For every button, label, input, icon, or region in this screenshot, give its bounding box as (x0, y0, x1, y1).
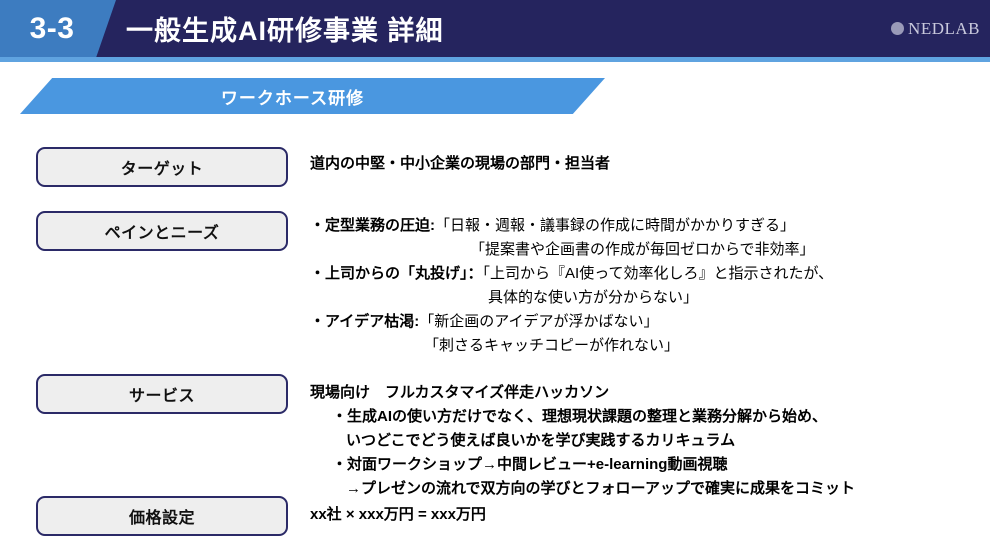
slide-number: 3-3 (0, 0, 104, 57)
pain-quote-1: 「日報・週報・議事録の作成に時間がかかりすぎる」 (435, 217, 795, 234)
pain-label-1: ・定型業務の圧迫: (310, 217, 435, 234)
price-text: xx社 × xxx万円 = xxx万円 (310, 503, 486, 527)
pain-line-1: ・定型業務の圧迫:「日報・週報・議事録の作成に時間がかかりすぎる」 (310, 214, 833, 238)
pain-label-5: ・アイデア枯渇: (310, 313, 419, 330)
pain-quote-2: 「提案書や企画書の作成が毎回ゼロからで非効率」 (470, 241, 815, 258)
label-box-service: サービス (36, 374, 288, 414)
pain-quote-4: 具体的な使い方が分からない」 (488, 289, 698, 306)
content-pain: ・定型業務の圧迫:「日報・週報・議事録の作成に時間がかかりすぎる」 「提案書や企… (310, 214, 833, 358)
pain-line-2: 「提案書や企画書の作成が毎回ゼロからで非効率」 (310, 238, 833, 262)
pain-quote-3: 「上司から『AI使って効率化しろ』と指示されたが、 (483, 265, 834, 282)
brand-name: NEDLAB (908, 19, 980, 39)
service-line-1: 現場向け フルカスタマイズ伴走ハッカソン (310, 381, 855, 405)
brand-logo: NEDLAB (891, 0, 980, 57)
pain-line-6: 「刺さるキャッチコピーが作れない」 (310, 334, 833, 358)
label-box-pain: ペインとニーズ (36, 211, 288, 251)
header-underline (0, 57, 990, 62)
service-line-5: →プレゼンの流れで双方向の学びとフォローアップで確実に成果をコミット (310, 477, 855, 501)
target-text: 道内の中堅・中小企業の現場の部門・担当者 (310, 152, 610, 176)
page-title: 一般生成AI研修事業 詳細 (126, 0, 444, 57)
section-banner-label: ワークホース研修 (0, 78, 585, 114)
slide-header: 3-3 一般生成AI研修事業 詳細 NEDLAB (0, 0, 990, 62)
pain-line-3: ・上司からの「丸投げ」：「上司から『AI使って効率化しろ』と指示されたが、 (310, 262, 833, 286)
service-line-2: ・生成AIの使い方だけでなく、理想現状課題の整理と業務分解から始め、 (310, 405, 855, 429)
content-service: 現場向け フルカスタマイズ伴走ハッカソン ・生成AIの使い方だけでなく、理想現状… (310, 381, 855, 501)
label-box-target: ターゲット (36, 147, 288, 187)
service-line-4: ・対面ワークショップ→中間レビュー+e-learning動画視聴 (310, 453, 855, 477)
pain-quote-5: 「新企画のアイデアが浮かばない」 (419, 313, 658, 330)
label-box-price: 価格設定 (36, 496, 288, 536)
pain-label-3: ・上司からの「丸投げ」： (310, 265, 483, 282)
content-price: xx社 × xxx万円 = xxx万円 (310, 503, 486, 527)
service-line-3: いつどこでどう使えば良いかを学び実践するカリキュラム (310, 429, 855, 453)
tree-circle-icon (891, 22, 904, 35)
pain-line-4: 具体的な使い方が分からない」 (310, 286, 833, 310)
pain-quote-6: 「刺さるキャッチコピーが作れない」 (424, 337, 679, 354)
content-target: 道内の中堅・中小企業の現場の部門・担当者 (310, 152, 610, 176)
pain-line-5: ・アイデア枯渇:「新企画のアイデアが浮かばない」 (310, 310, 833, 334)
